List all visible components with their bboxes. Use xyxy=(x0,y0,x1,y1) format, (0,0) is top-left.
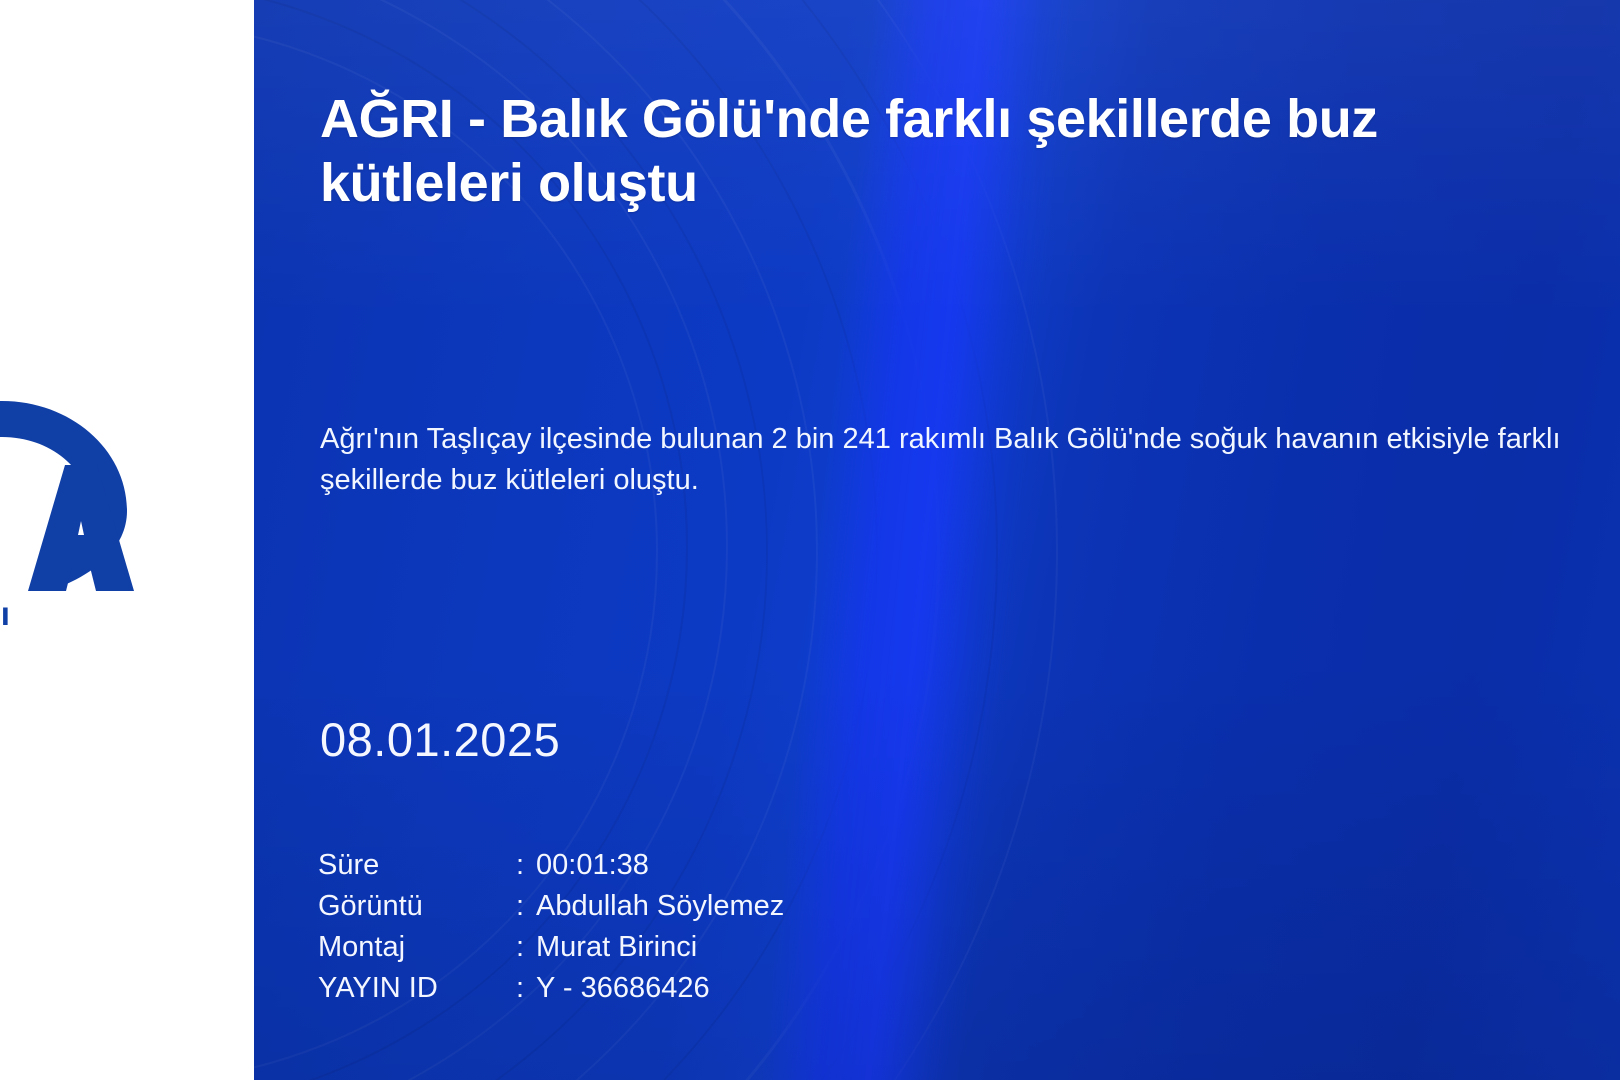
video-info-card: olu Ajansı AĞRI - Balık Gölü'nde farklı … xyxy=(0,0,1620,1080)
page-title: AĞRI - Balık Gölü'nde farklı şekillerde … xyxy=(320,88,1550,215)
anadolu-ajansi-logo: olu Ajansı xyxy=(0,395,152,645)
metadata-row-yayin-id: YAYIN ID : Y - 36686426 xyxy=(318,968,784,1009)
publish-date: 08.01.2025 xyxy=(320,716,560,763)
metadata-label: Süre xyxy=(318,845,516,886)
aa-monogram-icon xyxy=(0,395,152,591)
metadata-value: Murat Birinci xyxy=(536,927,784,968)
metadata-label: Görüntü xyxy=(318,886,516,927)
metadata-separator: : xyxy=(516,968,536,1009)
metadata-label: Montaj xyxy=(318,927,516,968)
metadata-separator: : xyxy=(516,886,536,927)
summary-text: Ağrı'nın Taşlıçay ilçesinde bulunan 2 bi… xyxy=(320,419,1620,501)
metadata-value: Abdullah Söylemez xyxy=(536,886,784,927)
logo-wordmark: olu Ajansı xyxy=(0,595,158,633)
logo-panel: olu Ajansı xyxy=(0,0,254,1080)
metadata-list: Süre : 00:01:38 Görüntü : Abdullah Söyle… xyxy=(318,845,784,1009)
metadata-separator: : xyxy=(516,845,536,886)
metadata-row-sure: Süre : 00:01:38 xyxy=(318,845,784,886)
info-panel: AĞRI - Balık Gölü'nde farklı şekillerde … xyxy=(254,0,1620,1080)
metadata-label: YAYIN ID xyxy=(318,968,516,1009)
metadata-separator: : xyxy=(516,927,536,968)
card-content: AĞRI - Balık Gölü'nde farklı şekillerde … xyxy=(254,0,1620,1080)
metadata-value: 00:01:38 xyxy=(536,845,784,886)
metadata-row-goruntu: Görüntü : Abdullah Söylemez xyxy=(318,886,784,927)
metadata-value: Y - 36686426 xyxy=(536,968,784,1009)
metadata-row-montaj: Montaj : Murat Birinci xyxy=(318,927,784,968)
